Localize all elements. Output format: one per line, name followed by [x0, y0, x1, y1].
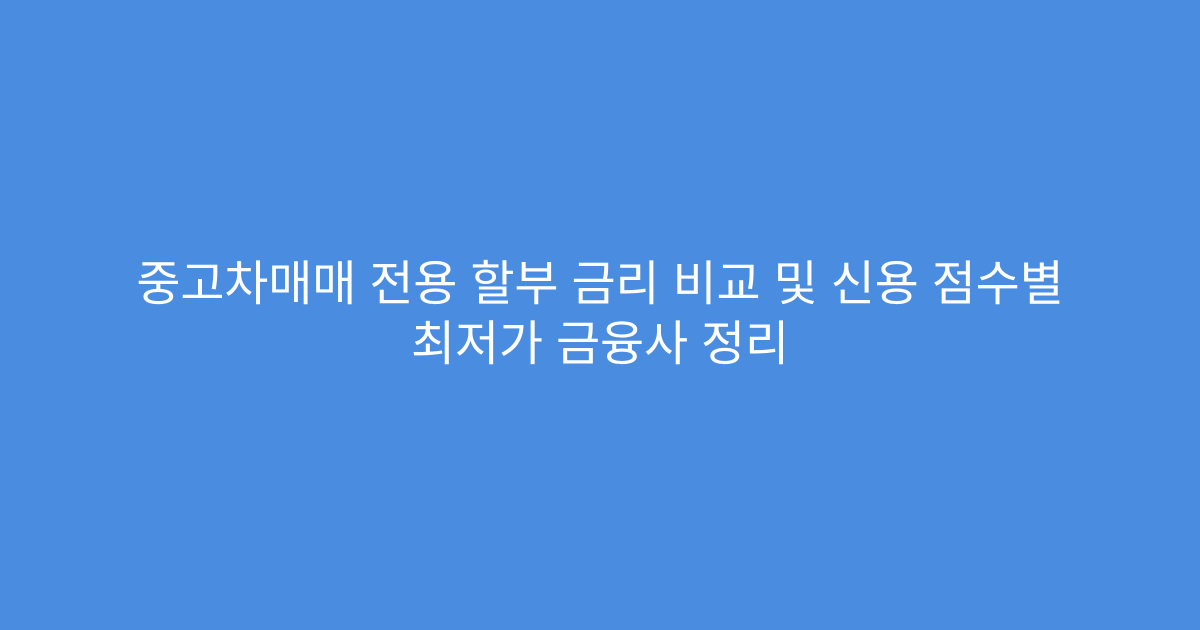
page-title-line-2: 최저가 금융사 정리 [72, 315, 1128, 375]
page-title-line-1: 중고차매매 전용 할부 금리 비교 및 신용 점수별 [72, 255, 1128, 315]
page-title: 중고차매매 전용 할부 금리 비교 및 신용 점수별 최저가 금융사 정리 [72, 255, 1128, 375]
og-card: 중고차매매 전용 할부 금리 비교 및 신용 점수별 최저가 금융사 정리 [0, 0, 1200, 630]
